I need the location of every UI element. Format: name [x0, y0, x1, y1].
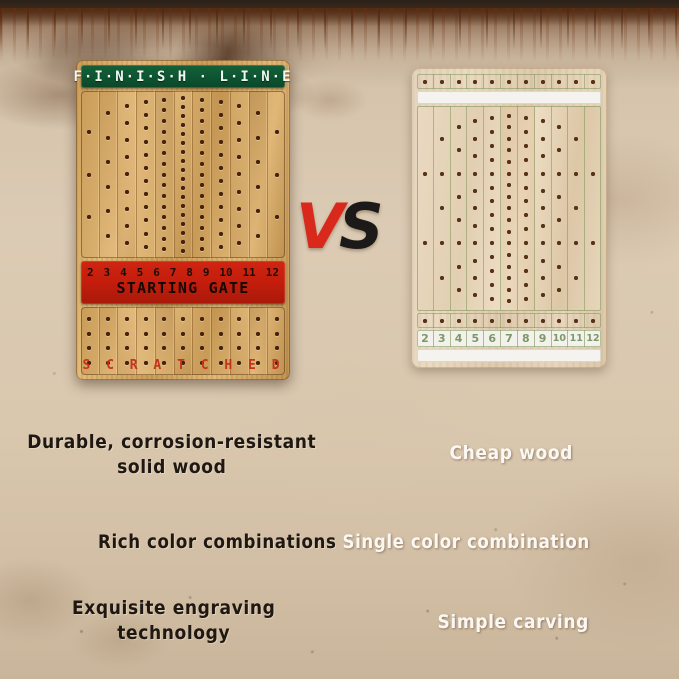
peg-hole[interactable]: [219, 361, 223, 365]
peg-hole[interactable]: [237, 224, 241, 228]
right-lane-5: [484, 106, 501, 311]
peg-hole[interactable]: [541, 172, 545, 176]
peg-hole[interactable]: [541, 119, 545, 123]
peg-hole[interactable]: [181, 213, 185, 217]
peg-hole[interactable]: [507, 137, 511, 141]
peg-hole[interactable]: [507, 206, 511, 210]
peg-hole[interactable]: [162, 108, 166, 112]
peg-hole[interactable]: [256, 332, 260, 336]
right-bottom-hole-cell-3[interactable]: [451, 313, 468, 328]
peg-hole[interactable]: [237, 346, 241, 350]
peg-hole[interactable]: [237, 155, 241, 159]
peg-hole[interactable]: [237, 207, 241, 211]
left-lane-11: [267, 91, 285, 258]
peg-hole[interactable]: [557, 125, 561, 129]
peg-hole[interactable]: [541, 206, 545, 210]
peg-hole[interactable]: [507, 253, 511, 257]
peg-hole[interactable]: [200, 215, 204, 219]
peg-hole[interactable]: [490, 213, 494, 217]
peg-hole[interactable]: [524, 172, 528, 176]
peg-hole[interactable]: [507, 241, 511, 245]
peg-hole[interactable]: [200, 162, 204, 166]
peg-hole[interactable]: [557, 195, 561, 199]
peg-hole[interactable]: [144, 218, 148, 222]
peg-hole[interactable]: [181, 186, 185, 190]
peg-hole[interactable]: [490, 144, 494, 148]
peg-hole[interactable]: [256, 234, 260, 238]
peg-hole[interactable]: [181, 332, 185, 336]
peg-hole[interactable]: [457, 288, 461, 292]
peg-hole[interactable]: [473, 259, 477, 263]
peg-hole[interactable]: [162, 317, 166, 321]
peg-hole[interactable]: [87, 173, 91, 177]
starting-gate-label: STARTING GATE: [84, 279, 282, 298]
peg-hole[interactable]: [181, 132, 185, 136]
peg-hole[interactable]: [473, 172, 477, 176]
peg-hole[interactable]: [507, 218, 511, 222]
peg-hole: [423, 319, 427, 323]
gate-number-8: 8: [186, 266, 193, 279]
peg-hole[interactable]: [507, 299, 511, 303]
right-top-hole-cell-3[interactable]: [451, 74, 468, 89]
peg-hole[interactable]: [200, 361, 204, 365]
peg-hole[interactable]: [541, 293, 545, 297]
peg-hole[interactable]: [219, 346, 223, 350]
peg-hole[interactable]: [125, 190, 129, 194]
peg-hole[interactable]: [574, 206, 578, 210]
peg-hole[interactable]: [507, 276, 511, 280]
peg-hole[interactable]: [440, 206, 444, 210]
peg-hole[interactable]: [524, 130, 528, 134]
peg-hole[interactable]: [144, 179, 148, 183]
peg-hole[interactable]: [200, 98, 204, 102]
right-product-board[interactable]: 23456789101112: [411, 68, 607, 368]
peg-hole[interactable]: [275, 130, 279, 134]
peg-hole[interactable]: [144, 205, 148, 209]
peg-hole[interactable]: [557, 148, 561, 152]
peg-hole[interactable]: [490, 186, 494, 190]
peg-hole[interactable]: [219, 153, 223, 157]
right-number-3: 3: [434, 330, 451, 347]
peg-hole[interactable]: [125, 241, 129, 245]
peg-hole[interactable]: [507, 148, 511, 152]
peg-hole[interactable]: [524, 199, 528, 203]
peg-hole[interactable]: [557, 218, 561, 222]
peg-hole[interactable]: [256, 346, 260, 350]
peg-hole[interactable]: [256, 136, 260, 140]
peg-hole[interactable]: [507, 125, 511, 129]
peg-hole[interactable]: [237, 332, 241, 336]
peg-hole[interactable]: [144, 332, 148, 336]
peg-hole[interactable]: [541, 276, 545, 280]
peg-hole[interactable]: [557, 172, 561, 176]
peg-hole[interactable]: [125, 207, 129, 211]
peg-hole[interactable]: [237, 190, 241, 194]
peg-hole[interactable]: [219, 245, 223, 249]
peg-hole[interactable]: [200, 108, 204, 112]
peg-hole[interactable]: [219, 232, 223, 236]
peg-hole[interactable]: [162, 194, 166, 198]
peg-hole[interactable]: [200, 183, 204, 187]
right-number-12: 12: [585, 330, 601, 347]
peg-hole[interactable]: [144, 166, 148, 170]
peg-hole[interactable]: [490, 241, 494, 245]
peg-hole[interactable]: [473, 224, 477, 228]
feature-3-left-line2: technology: [8, 621, 340, 646]
peg-hole[interactable]: [200, 173, 204, 177]
peg-hole[interactable]: [144, 113, 148, 117]
peg-hole[interactable]: [557, 241, 561, 245]
peg-hole[interactable]: [507, 172, 511, 176]
peg-hole[interactable]: [125, 155, 129, 159]
left-scratch-lane-7: [192, 307, 211, 375]
peg-hole[interactable]: [125, 121, 129, 125]
right-top-hole-cell-7[interactable]: [518, 74, 535, 89]
peg-hole[interactable]: [256, 209, 260, 213]
peg-hole[interactable]: [473, 154, 477, 158]
peg-hole[interactable]: [524, 186, 528, 190]
peg-hole[interactable]: [162, 119, 166, 123]
peg-hole[interactable]: [507, 195, 511, 199]
peg-hole[interactable]: [507, 160, 511, 164]
peg-hole[interactable]: [125, 104, 129, 108]
right-bottom-hole-cell-7[interactable]: [518, 313, 535, 328]
peg-hole[interactable]: [507, 114, 511, 118]
peg-hole[interactable]: [181, 141, 185, 145]
left-main-track: [81, 91, 285, 258]
peg-hole[interactable]: [219, 218, 223, 222]
peg-hole[interactable]: [144, 245, 148, 249]
right-bottom-hole-cell-11[interactable]: [585, 313, 601, 328]
peg-hole[interactable]: [524, 213, 528, 217]
left-scratch-lane-6: [174, 307, 193, 375]
peg-hole[interactable]: [524, 283, 528, 287]
right-number-11: 11: [568, 330, 585, 347]
right-bottom-hole-cell-5[interactable]: [484, 313, 501, 328]
peg-hole[interactable]: [473, 206, 477, 210]
peg-hole[interactable]: [275, 317, 279, 321]
peg-hole[interactable]: [473, 276, 477, 280]
peg-hole[interactable]: [106, 346, 110, 350]
peg-hole[interactable]: [275, 215, 279, 219]
peg-hole[interactable]: [557, 288, 561, 292]
peg-hole[interactable]: [162, 173, 166, 177]
peg-hole[interactable]: [541, 224, 545, 228]
peg-hole[interactable]: [440, 137, 444, 141]
right-top-hole-cell-11[interactable]: [585, 74, 601, 89]
peg-hole[interactable]: [162, 183, 166, 187]
peg-hole[interactable]: [440, 241, 444, 245]
peg-hole[interactable]: [181, 240, 185, 244]
peg-hole: [524, 319, 528, 323]
right-top-hole-cell-5[interactable]: [484, 74, 501, 89]
peg-hole[interactable]: [144, 232, 148, 236]
right-top-hole-cell-8[interactable]: [535, 74, 552, 89]
right-top-hole-cell-2[interactable]: [434, 74, 451, 89]
peg-hole[interactable]: [574, 172, 578, 176]
peg-hole[interactable]: [200, 247, 204, 251]
peg-hole[interactable]: [524, 297, 528, 301]
peg-hole[interactable]: [219, 179, 223, 183]
peg-hole[interactable]: [200, 140, 204, 144]
peg-hole[interactable]: [490, 297, 494, 301]
peg-hole[interactable]: [125, 332, 129, 336]
peg-hole[interactable]: [200, 151, 204, 155]
peg-hole[interactable]: [574, 137, 578, 141]
peg-hole[interactable]: [524, 241, 528, 245]
peg-hole[interactable]: [200, 194, 204, 198]
peg-hole[interactable]: [162, 215, 166, 219]
peg-hole[interactable]: [219, 100, 223, 104]
peg-hole[interactable]: [200, 346, 204, 350]
left-scratch-track: S C R A T C H E D: [81, 307, 285, 375]
peg-hole[interactable]: [200, 119, 204, 123]
peg-hole[interactable]: [256, 317, 260, 321]
peg-hole[interactable]: [144, 361, 148, 365]
peg-hole[interactable]: [237, 241, 241, 245]
peg-hole[interactable]: [256, 160, 260, 164]
peg-hole[interactable]: [237, 172, 241, 176]
peg-hole[interactable]: [181, 105, 185, 109]
peg-hole[interactable]: [490, 172, 494, 176]
peg-hole[interactable]: [87, 317, 91, 321]
peg-hole[interactable]: [181, 317, 185, 321]
peg-hole[interactable]: [181, 195, 185, 199]
peg-hole[interactable]: [181, 168, 185, 172]
peg-hole[interactable]: [181, 346, 185, 350]
peg-hole[interactable]: [125, 361, 129, 365]
peg-hole[interactable]: [507, 288, 511, 292]
peg-hole[interactable]: [256, 361, 260, 365]
peg-hole[interactable]: [181, 204, 185, 208]
peg-hole[interactable]: [591, 241, 595, 245]
peg-hole[interactable]: [490, 130, 494, 134]
peg-hole[interactable]: [219, 166, 223, 170]
peg-hole[interactable]: [144, 153, 148, 157]
right-bottom-hole-cell-4[interactable]: [467, 313, 484, 328]
peg-hole[interactable]: [473, 137, 477, 141]
peg-hole[interactable]: [490, 255, 494, 259]
peg-hole[interactable]: [162, 140, 166, 144]
peg-hole[interactable]: [200, 332, 204, 336]
peg-hole[interactable]: [275, 361, 279, 365]
peg-hole[interactable]: [181, 159, 185, 163]
peg-hole: [440, 80, 444, 84]
peg-hole[interactable]: [181, 249, 185, 253]
peg-hole[interactable]: [457, 265, 461, 269]
peg-hole[interactable]: [219, 332, 223, 336]
peg-hole[interactable]: [125, 317, 129, 321]
peg-hole[interactable]: [275, 346, 279, 350]
peg-hole[interactable]: [541, 259, 545, 263]
peg-hole[interactable]: [106, 361, 110, 365]
right-lane-8: [535, 106, 552, 311]
peg-hole[interactable]: [125, 138, 129, 142]
peg-hole[interactable]: [524, 158, 528, 162]
peg-hole[interactable]: [490, 269, 494, 273]
peg-hole[interactable]: [457, 218, 461, 222]
peg-hole[interactable]: [181, 177, 185, 181]
peg-hole[interactable]: [490, 158, 494, 162]
peg-hole[interactable]: [457, 148, 461, 152]
peg-hole[interactable]: [490, 116, 494, 120]
peg-hole[interactable]: [541, 154, 545, 158]
peg-hole[interactable]: [106, 136, 110, 140]
right-bottom-hole-cell-6[interactable]: [501, 313, 518, 328]
peg-hole[interactable]: [106, 111, 110, 115]
left-lane-2: [99, 91, 118, 258]
peg-hole[interactable]: [423, 241, 427, 245]
peg-hole[interactable]: [106, 209, 110, 213]
peg-hole[interactable]: [87, 215, 91, 219]
peg-hole[interactable]: [144, 317, 148, 321]
peg-hole[interactable]: [524, 116, 528, 120]
peg-hole[interactable]: [162, 162, 166, 166]
peg-hole[interactable]: [237, 121, 241, 125]
peg-hole[interactable]: [162, 346, 166, 350]
peg-hole[interactable]: [106, 160, 110, 164]
right-bottom-hole-cell-10[interactable]: [568, 313, 585, 328]
peg-hole[interactable]: [557, 265, 561, 269]
peg-hole[interactable]: [162, 151, 166, 155]
right-top-hole-cell-1[interactable]: [417, 74, 434, 89]
peg-hole[interactable]: [144, 140, 148, 144]
peg-hole[interactable]: [125, 224, 129, 228]
right-number-9: 9: [535, 330, 552, 347]
peg-hole[interactable]: [591, 172, 595, 176]
peg-hole[interactable]: [162, 361, 166, 365]
peg-hole[interactable]: [162, 205, 166, 209]
peg-hole[interactable]: [440, 276, 444, 280]
peg-hole[interactable]: [162, 247, 166, 251]
right-bottom-hole-cell-9[interactable]: [552, 313, 569, 328]
peg-hole[interactable]: [524, 269, 528, 273]
peg-hole[interactable]: [440, 172, 444, 176]
peg-hole[interactable]: [144, 100, 148, 104]
peg-hole[interactable]: [181, 150, 185, 154]
right-top-hole-cell-4[interactable]: [467, 74, 484, 89]
peg-hole[interactable]: [200, 237, 204, 241]
peg-hole[interactable]: [219, 192, 223, 196]
peg-hole[interactable]: [541, 189, 545, 193]
peg-hole: [591, 80, 595, 84]
peg-hole[interactable]: [106, 234, 110, 238]
left-product-board[interactable]: F·I·N·I·S·H · L·I·N·E 23456789101112 STA…: [76, 60, 290, 380]
peg-hole[interactable]: [473, 119, 477, 123]
peg-hole[interactable]: [162, 130, 166, 134]
feature-1-left-line2: solid wood: [4, 455, 340, 480]
right-lane-9: [552, 106, 569, 311]
peg-hole[interactable]: [507, 183, 511, 187]
peg-hole[interactable]: [237, 361, 241, 365]
peg-hole[interactable]: [162, 237, 166, 241]
peg-hole[interactable]: [181, 123, 185, 127]
peg-hole[interactable]: [87, 346, 91, 350]
peg-hole[interactable]: [423, 172, 427, 176]
peg-hole[interactable]: [162, 98, 166, 102]
peg-hole[interactable]: [181, 222, 185, 226]
peg-hole[interactable]: [524, 227, 528, 231]
peg-hole[interactable]: [125, 346, 129, 350]
peg-hole[interactable]: [473, 293, 477, 297]
peg-hole[interactable]: [162, 332, 166, 336]
peg-hole[interactable]: [490, 199, 494, 203]
right-number-10: 10: [552, 330, 569, 347]
left-scratch-lane-10: [249, 307, 268, 375]
peg-hole[interactable]: [200, 317, 204, 321]
peg-hole[interactable]: [524, 255, 528, 259]
peg-hole[interactable]: [219, 205, 223, 209]
right-bottom-hole-cell-2[interactable]: [434, 313, 451, 328]
peg-hole[interactable]: [181, 231, 185, 235]
peg-hole[interactable]: [125, 172, 129, 176]
peg-hole[interactable]: [181, 361, 185, 365]
peg-hole[interactable]: [87, 361, 91, 365]
peg-hole[interactable]: [219, 317, 223, 321]
peg-hole[interactable]: [524, 144, 528, 148]
peg-hole[interactable]: [574, 276, 578, 280]
peg-hole[interactable]: [237, 317, 241, 321]
peg-hole[interactable]: [256, 185, 260, 189]
peg-hole[interactable]: [275, 173, 279, 177]
peg-hole[interactable]: [106, 332, 110, 336]
peg-hole[interactable]: [473, 189, 477, 193]
peg-hole[interactable]: [457, 125, 461, 129]
peg-hole[interactable]: [457, 195, 461, 199]
left-lane-1: [81, 91, 99, 258]
peg-hole[interactable]: [87, 130, 91, 134]
peg-hole[interactable]: [144, 346, 148, 350]
peg-hole[interactable]: [490, 227, 494, 231]
peg-hole[interactable]: [219, 140, 223, 144]
peg-hole[interactable]: [256, 111, 260, 115]
right-bottom-hole-cell-8[interactable]: [535, 313, 552, 328]
peg-hole[interactable]: [237, 104, 241, 108]
peg-hole[interactable]: [106, 185, 110, 189]
peg-hole[interactable]: [490, 283, 494, 287]
peg-hole[interactable]: [106, 317, 110, 321]
peg-hole[interactable]: [541, 241, 545, 245]
right-top-blank-strip: [417, 91, 601, 104]
peg-hole[interactable]: [144, 192, 148, 196]
peg-hole[interactable]: [457, 241, 461, 245]
peg-hole[interactable]: [237, 138, 241, 142]
peg-hole[interactable]: [541, 137, 545, 141]
right-top-hole-cell-10[interactable]: [568, 74, 585, 89]
peg-hole[interactable]: [457, 172, 461, 176]
peg-hole[interactable]: [219, 126, 223, 130]
peg-hole[interactable]: [574, 241, 578, 245]
peg-hole[interactable]: [181, 114, 185, 118]
peg-hole[interactable]: [181, 96, 185, 100]
peg-hole[interactable]: [507, 230, 511, 234]
peg-hole[interactable]: [219, 113, 223, 117]
peg-hole[interactable]: [473, 241, 477, 245]
right-bottom-hole-cell-1[interactable]: [417, 313, 434, 328]
peg-hole: [457, 319, 461, 323]
peg-hole[interactable]: [275, 332, 279, 336]
peg-hole[interactable]: [200, 130, 204, 134]
right-top-hole-cell-6[interactable]: [501, 74, 518, 89]
peg-hole[interactable]: [162, 226, 166, 230]
left-scratch-lane-4: [136, 307, 155, 375]
peg-hole[interactable]: [87, 332, 91, 336]
peg-hole[interactable]: [144, 126, 148, 130]
peg-hole[interactable]: [200, 226, 204, 230]
right-top-hole-cell-9[interactable]: [552, 74, 569, 89]
peg-hole[interactable]: [200, 205, 204, 209]
peg-hole[interactable]: [507, 265, 511, 269]
